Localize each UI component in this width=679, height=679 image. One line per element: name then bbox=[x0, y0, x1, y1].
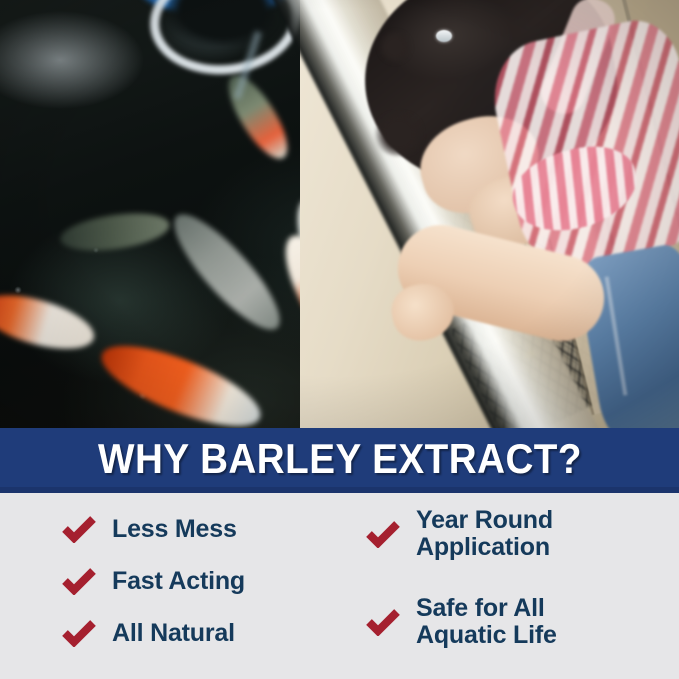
feature-item: All Natural bbox=[62, 619, 348, 647]
checkmark-icon bbox=[366, 608, 400, 636]
hair-clip bbox=[436, 30, 452, 42]
feature-list: Less Mess Fast Acting All Natural Year R… bbox=[0, 493, 679, 679]
feature-item: Less Mess bbox=[62, 515, 348, 543]
checkmark-icon bbox=[62, 567, 96, 595]
product-infographic: WHY BARLEY EXTRACT? Less Mess Fast Actin… bbox=[0, 0, 679, 679]
feature-item: Fast Acting bbox=[62, 567, 348, 595]
headline-text: WHY BARLEY EXTRACT? bbox=[98, 438, 582, 480]
feature-label: Fast Acting bbox=[112, 568, 245, 595]
checkmark-icon bbox=[62, 619, 96, 647]
feature-label: Safe for All Aquatic Life bbox=[416, 595, 557, 649]
checkmark-icon bbox=[62, 515, 96, 543]
headline-banner: WHY BARLEY EXTRACT? bbox=[0, 428, 679, 493]
feature-item: Safe for All Aquatic Life bbox=[366, 595, 679, 649]
hair-curl bbox=[378, 30, 412, 64]
hair-curl bbox=[372, 112, 426, 156]
feature-label: Year Round Application bbox=[416, 507, 553, 561]
feature-column-left: Less Mess Fast Acting All Natural bbox=[0, 493, 348, 679]
feature-label: Less Mess bbox=[112, 516, 237, 543]
feature-item: Year Round Application bbox=[366, 507, 679, 561]
checkmark-icon bbox=[366, 520, 400, 548]
feature-column-right: Year Round Application Safe for All Aqua… bbox=[348, 493, 679, 679]
hero-photo bbox=[0, 0, 679, 428]
feature-label: All Natural bbox=[112, 620, 235, 647]
